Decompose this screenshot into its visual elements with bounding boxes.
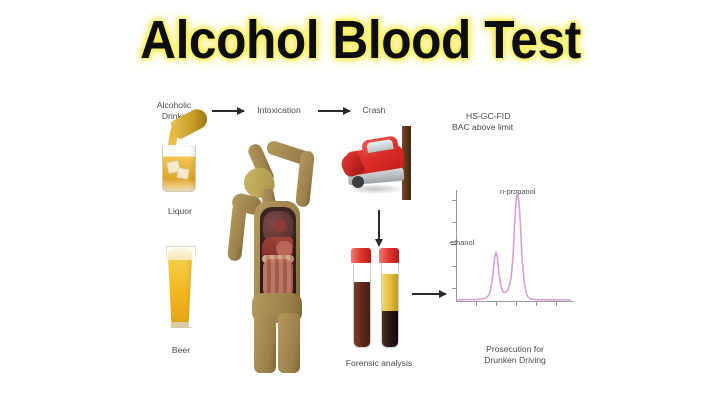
label-forensic-analysis: Forensic analysis [318, 358, 440, 369]
chromatogram-icon [448, 186, 580, 314]
blood-tube-separated [379, 248, 399, 346]
blood-tube-whole [351, 248, 371, 346]
label-peak-n-propanol: n-propanol [500, 187, 572, 196]
liquor-glass-icon [148, 113, 212, 201]
intestine-icon [263, 259, 293, 297]
label-prosecution-outcome: Prosecution for Drunken Driving [450, 344, 580, 366]
blood-collection-tubes-icon [349, 248, 409, 356]
label-method-technique: HS-GC-FID [452, 111, 572, 122]
label-analysis-method: HS-GC-FID BAC above limit [452, 111, 572, 133]
human-left-forearm [227, 202, 247, 261]
car-crash-icon [340, 126, 428, 202]
flow-step-intoxication: Intoxication [246, 105, 312, 116]
infographic-page: Alcohol Blood Test Alcoholic Drinks Into… [0, 0, 720, 404]
beer-glass-base [171, 322, 189, 328]
label-liquor: Liquor [140, 206, 220, 217]
diagram-canvas: Alcoholic Drinks Intoxication Crash Liqu… [0, 86, 720, 386]
label-beer: Beer [138, 345, 224, 356]
tube-glass [381, 261, 399, 348]
flow-step-crash: Crash [352, 105, 396, 116]
whole-blood-fill [354, 282, 370, 347]
car-wheel [352, 176, 364, 188]
heart-icon [273, 219, 286, 232]
arrow-drinks-to-intoxication-icon [212, 110, 244, 112]
arrow-intoxication-to-crash-icon [318, 110, 350, 112]
page-title: Alcohol Blood Test [140, 9, 581, 71]
clot-layer [382, 311, 398, 347]
beer-glass-outline [166, 246, 196, 328]
label-prosecution-line1: Prosecution for [450, 344, 580, 355]
human-left-leg [254, 313, 276, 373]
title-bar: Alcohol Blood Test [0, 4, 720, 76]
chromatogram-trace [448, 186, 580, 314]
tube-cap-icon [351, 248, 371, 263]
human-anatomy-icon [228, 141, 328, 373]
tube-glass [353, 261, 371, 348]
label-prosecution-line2: Drunken Driving [450, 355, 580, 366]
human-right-leg [278, 313, 300, 373]
ice-cube-icon [176, 167, 190, 180]
label-peak-ethanol: ethanol [450, 238, 502, 247]
serum-layer [382, 274, 398, 311]
human-body-cavity [260, 207, 296, 302]
arrow-crash-to-tubes-icon [378, 210, 380, 240]
label-method-result: BAC above limit [452, 122, 572, 133]
tube-cap-icon [379, 248, 399, 263]
arrow-tubes-to-chromatogram-icon [412, 293, 446, 295]
beer-glass-icon [160, 246, 202, 336]
